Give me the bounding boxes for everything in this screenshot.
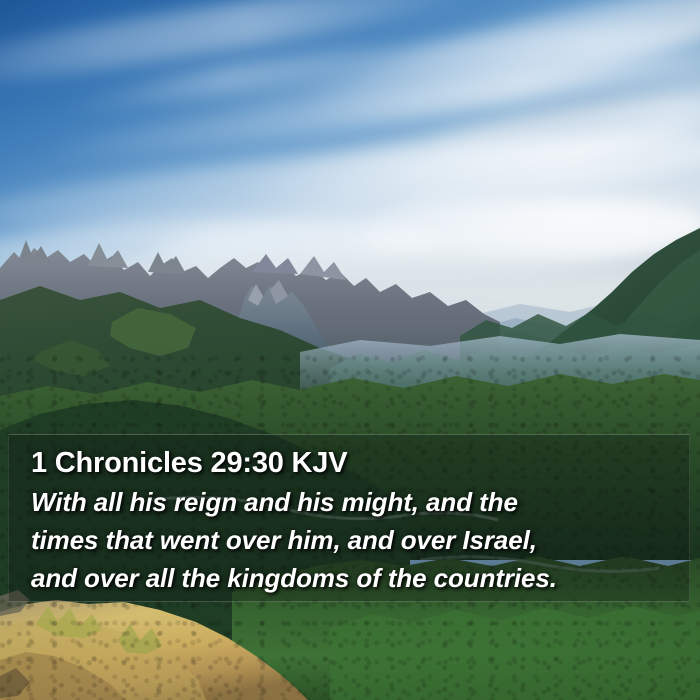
verse-text-line: With all his reign and his might, and th…: [31, 483, 671, 521]
verse-overlay-panel: 1 Chronicles 29:30 KJV With all his reig…: [8, 434, 690, 602]
verse-text-line: times that went over him, and over Israe…: [31, 521, 671, 559]
verse-reference: 1 Chronicles 29:30 KJV: [31, 445, 671, 481]
verse-text: With all his reign and his might, and th…: [31, 483, 671, 597]
verse-text-line: and over all the kingdoms of the countri…: [31, 559, 671, 597]
verse-image-card: 1 Chronicles 29:30 KJV With all his reig…: [0, 0, 700, 700]
